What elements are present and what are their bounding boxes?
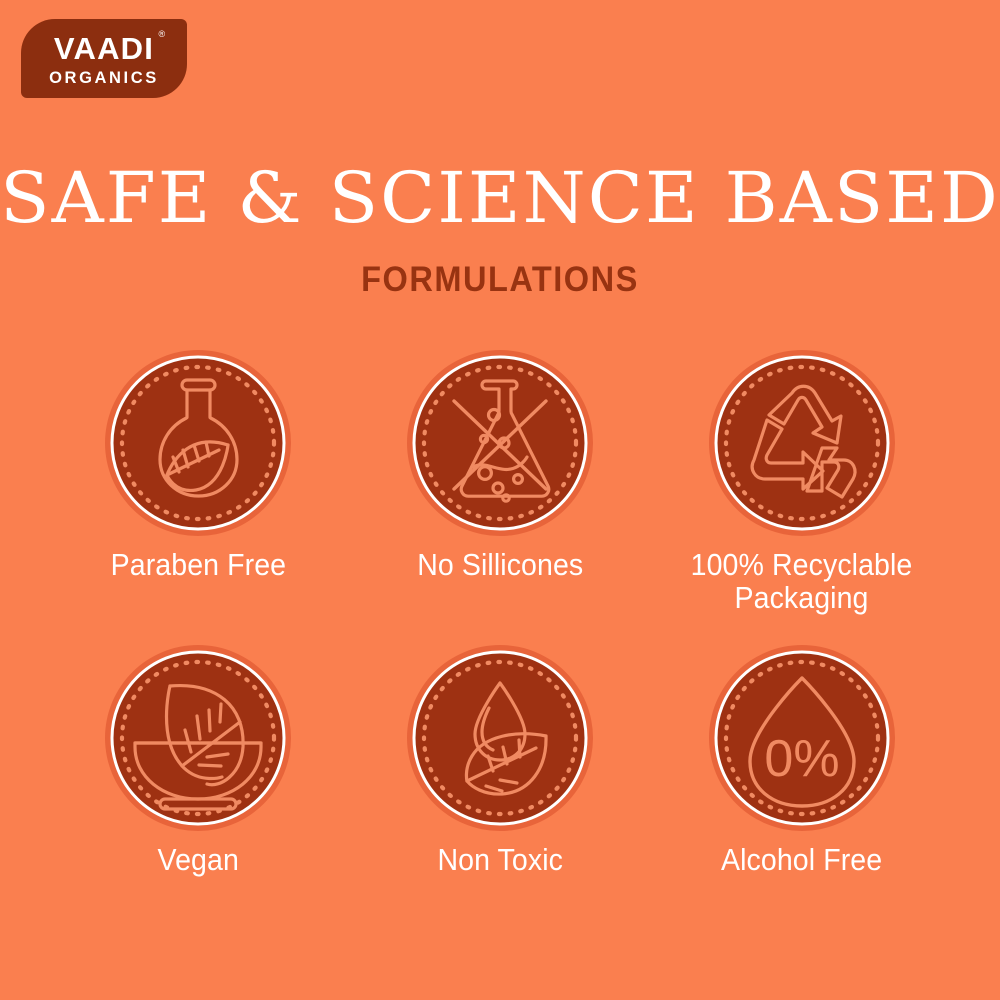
page-subtitle: FORMULATIONS <box>35 262 965 297</box>
badge-paraben-free[interactable]: Paraben Free <box>47 349 349 615</box>
brand-tagline: ORGANICS <box>49 70 159 87</box>
droplet-zero-label: 0% <box>764 730 839 788</box>
badge-label: Vegan <box>157 843 238 876</box>
feature-badge-grid: Paraben Free <box>47 349 953 876</box>
medal-paraben-free <box>104 349 292 537</box>
medal-alcohol-free: 0% <box>708 644 896 832</box>
badge-label: Non Toxic <box>437 843 563 876</box>
badge-alcohol-free[interactable]: 0% Alcohol Free <box>651 644 953 876</box>
medal-no-sillicones <box>406 349 594 537</box>
brand-wordmark: VAADI® <box>54 33 154 64</box>
badge-label: Paraben Free <box>110 548 286 581</box>
registered-trademark-icon: ® <box>158 30 165 39</box>
badge-non-toxic[interactable]: Non Toxic <box>349 644 651 876</box>
badge-label: 100% Recyclable Packaging <box>691 548 913 615</box>
badge-vegan[interactable]: Vegan <box>47 644 349 876</box>
medal-non-toxic <box>406 644 594 832</box>
badge-no-sillicones[interactable]: No Sillicones <box>349 349 651 615</box>
badge-label: Alcohol Free <box>721 843 882 876</box>
brand-name: VAADI <box>54 31 154 66</box>
badge-label: No Sillicones <box>417 548 583 581</box>
brand-logo[interactable]: VAADI® ORGANICS <box>21 19 187 98</box>
medal-vegan <box>104 644 292 832</box>
page-title: SAFE & SCIENCE BASED <box>0 163 1000 233</box>
badge-recyclable-packaging[interactable]: 100% Recyclable Packaging <box>651 349 953 615</box>
medal-recyclable-packaging <box>708 349 896 537</box>
